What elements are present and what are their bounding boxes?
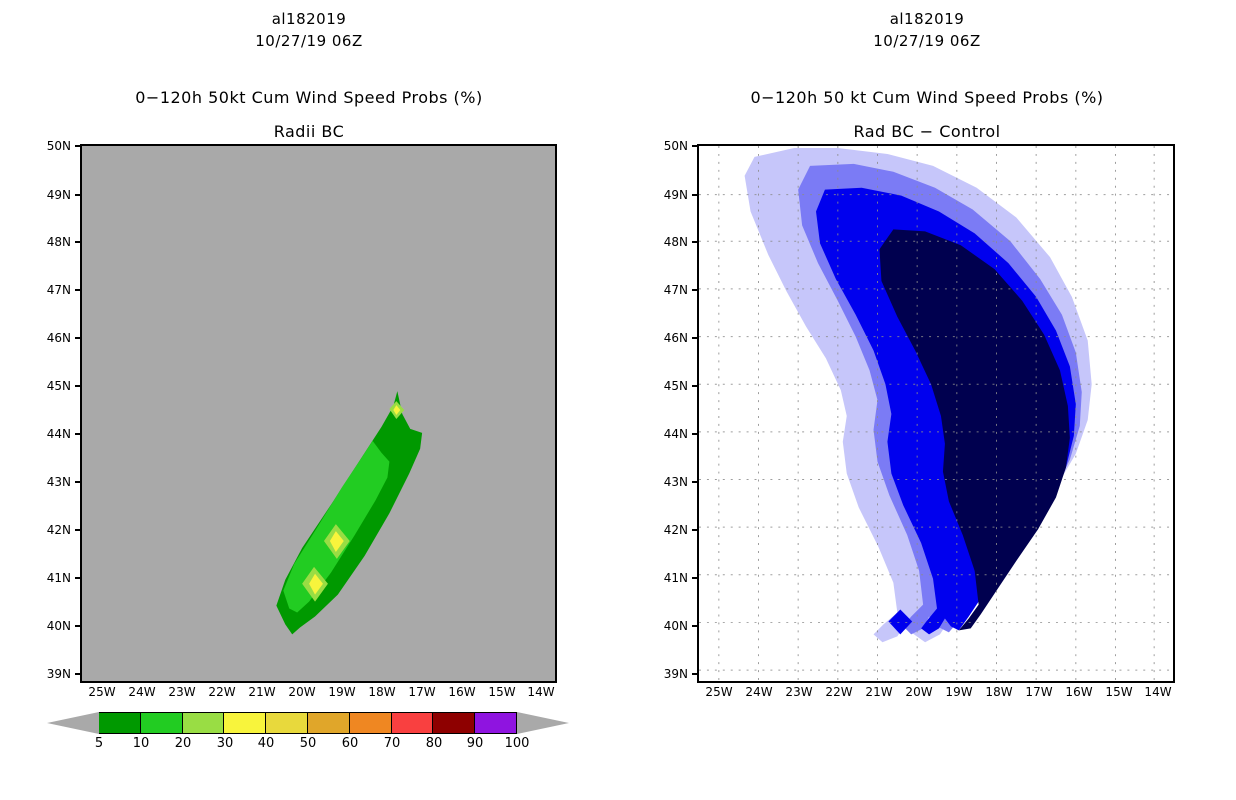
left-xtick-17W: 17W — [408, 685, 435, 699]
left-colorbar-tick-50: 50 — [300, 736, 317, 751]
left-ytick-45N: 45N — [47, 379, 82, 393]
right-xtick-24W: 24W — [745, 685, 772, 699]
left-ytick-48N: 48N — [47, 235, 82, 249]
left-ytick-44N: 44N — [47, 427, 82, 441]
right-xtick-19W: 19W — [945, 685, 972, 699]
left-colorbar-tick-70: 70 — [384, 736, 401, 751]
right-ytick-49N: 49N — [664, 188, 699, 202]
left-colorbar: 5 10 20 30 40 50 60 70 80 90 100 — [47, 712, 569, 772]
left-plot-area: 50N 49N 48N 47N 46N 45N 44N 43N 42N 41N … — [80, 144, 557, 683]
left-xtick-23W: 23W — [168, 685, 195, 699]
panel-left: al182019 10/27/19 06Z 0−120h 50kt Cum Wi… — [0, 0, 618, 800]
left-storm-id: al182019 — [0, 10, 618, 28]
left-xtick-24W: 24W — [128, 685, 155, 699]
left-colorbar-tick-5: 5 — [95, 736, 103, 751]
left-colorbar-under-arrow — [47, 712, 99, 734]
left-colorbar-seg-40 — [266, 712, 308, 734]
left-colorbar-tick-80: 80 — [426, 736, 443, 751]
right-xtick-25W: 25W — [705, 685, 732, 699]
left-xtick-16W: 16W — [448, 685, 475, 699]
left-xtick-20W: 20W — [288, 685, 315, 699]
left-contour-field — [82, 146, 555, 681]
left-xtick-22W: 22W — [208, 685, 235, 699]
right-xtick-15W: 15W — [1105, 685, 1132, 699]
right-datetime: 10/27/19 06Z — [618, 32, 1236, 50]
right-ytick-40N: 40N — [664, 619, 699, 633]
left-xtick-25W: 25W — [88, 685, 115, 699]
left-colorbar-tick-60: 60 — [342, 736, 359, 751]
left-ytick-41N: 41N — [47, 571, 82, 585]
right-xtick-14W: 14W — [1144, 685, 1171, 699]
right-contour-field — [699, 146, 1173, 681]
right-title-line2: Rad BC − Control — [618, 122, 1236, 141]
left-title-line2: Radii BC — [0, 122, 618, 141]
left-colorbar-over-arrow — [517, 712, 569, 734]
left-ytick-42N: 42N — [47, 523, 82, 537]
left-xtick-19W: 19W — [328, 685, 355, 699]
right-xtick-16W: 16W — [1065, 685, 1092, 699]
right-plot-area: 50N 49N 48N 47N 46N 45N 44N 43N 42N 41N … — [697, 144, 1175, 683]
right-ytick-46N: 46N — [664, 331, 699, 345]
left-colorbar-tick-90: 90 — [467, 736, 484, 751]
right-storm-id: al182019 — [618, 10, 1236, 28]
right-xtick-21W: 21W — [865, 685, 892, 699]
left-ytick-39N: 39N — [47, 667, 82, 681]
left-colorbar-seg-80 — [433, 712, 475, 734]
left-ytick-50N: 50N — [47, 139, 82, 153]
right-ytick-42N: 42N — [664, 523, 699, 537]
left-ytick-40N: 40N — [47, 619, 82, 633]
left-colorbar-seg-30 — [224, 712, 266, 734]
left-xtick-15W: 15W — [488, 685, 515, 699]
right-xtick-18W: 18W — [985, 685, 1012, 699]
right-xtick-17W: 17W — [1025, 685, 1052, 699]
left-colorbar-tick-30: 30 — [217, 736, 234, 751]
left-datetime: 10/27/19 06Z — [0, 32, 618, 50]
left-colorbar-seg-5 — [99, 712, 141, 734]
left-colorbar-seg-50 — [308, 712, 350, 734]
right-ytick-48N: 48N — [664, 235, 699, 249]
left-colorbar-tick-100: 100 — [505, 736, 530, 751]
left-ytick-46N: 46N — [47, 331, 82, 345]
left-colorbar-tick-10: 10 — [133, 736, 150, 751]
right-ytick-50N: 50N — [664, 139, 699, 153]
left-colorbar-seg-90 — [475, 712, 517, 734]
left-colorbar-tick-20: 20 — [175, 736, 192, 751]
right-title-line1: 0−120h 50 kt Cum Wind Speed Probs (%) — [618, 88, 1236, 107]
left-colorbar-seg-60 — [350, 712, 392, 734]
left-colorbar-seg-70 — [392, 712, 434, 734]
left-ytick-43N: 43N — [47, 475, 82, 489]
left-ytick-47N: 47N — [47, 283, 82, 297]
right-ytick-44N: 44N — [664, 427, 699, 441]
right-xtick-22W: 22W — [825, 685, 852, 699]
right-ytick-47N: 47N — [664, 283, 699, 297]
left-xtick-18W: 18W — [368, 685, 395, 699]
right-xtick-20W: 20W — [905, 685, 932, 699]
right-ytick-39N: 39N — [664, 667, 699, 681]
left-ytick-49N: 49N — [47, 188, 82, 202]
left-colorbar-seg-20 — [183, 712, 225, 734]
left-xtick-14W: 14W — [527, 685, 554, 699]
left-title-line1: 0−120h 50kt Cum Wind Speed Probs (%) — [0, 88, 618, 107]
right-ytick-43N: 43N — [664, 475, 699, 489]
left-colorbar-tick-40: 40 — [258, 736, 275, 751]
panel-right: al182019 10/27/19 06Z 0−120h 50 kt Cum W… — [618, 0, 1236, 800]
right-xtick-23W: 23W — [785, 685, 812, 699]
right-ytick-41N: 41N — [664, 571, 699, 585]
left-colorbar-seg-10 — [141, 712, 183, 734]
left-xtick-21W: 21W — [248, 685, 275, 699]
right-ytick-45N: 45N — [664, 379, 699, 393]
